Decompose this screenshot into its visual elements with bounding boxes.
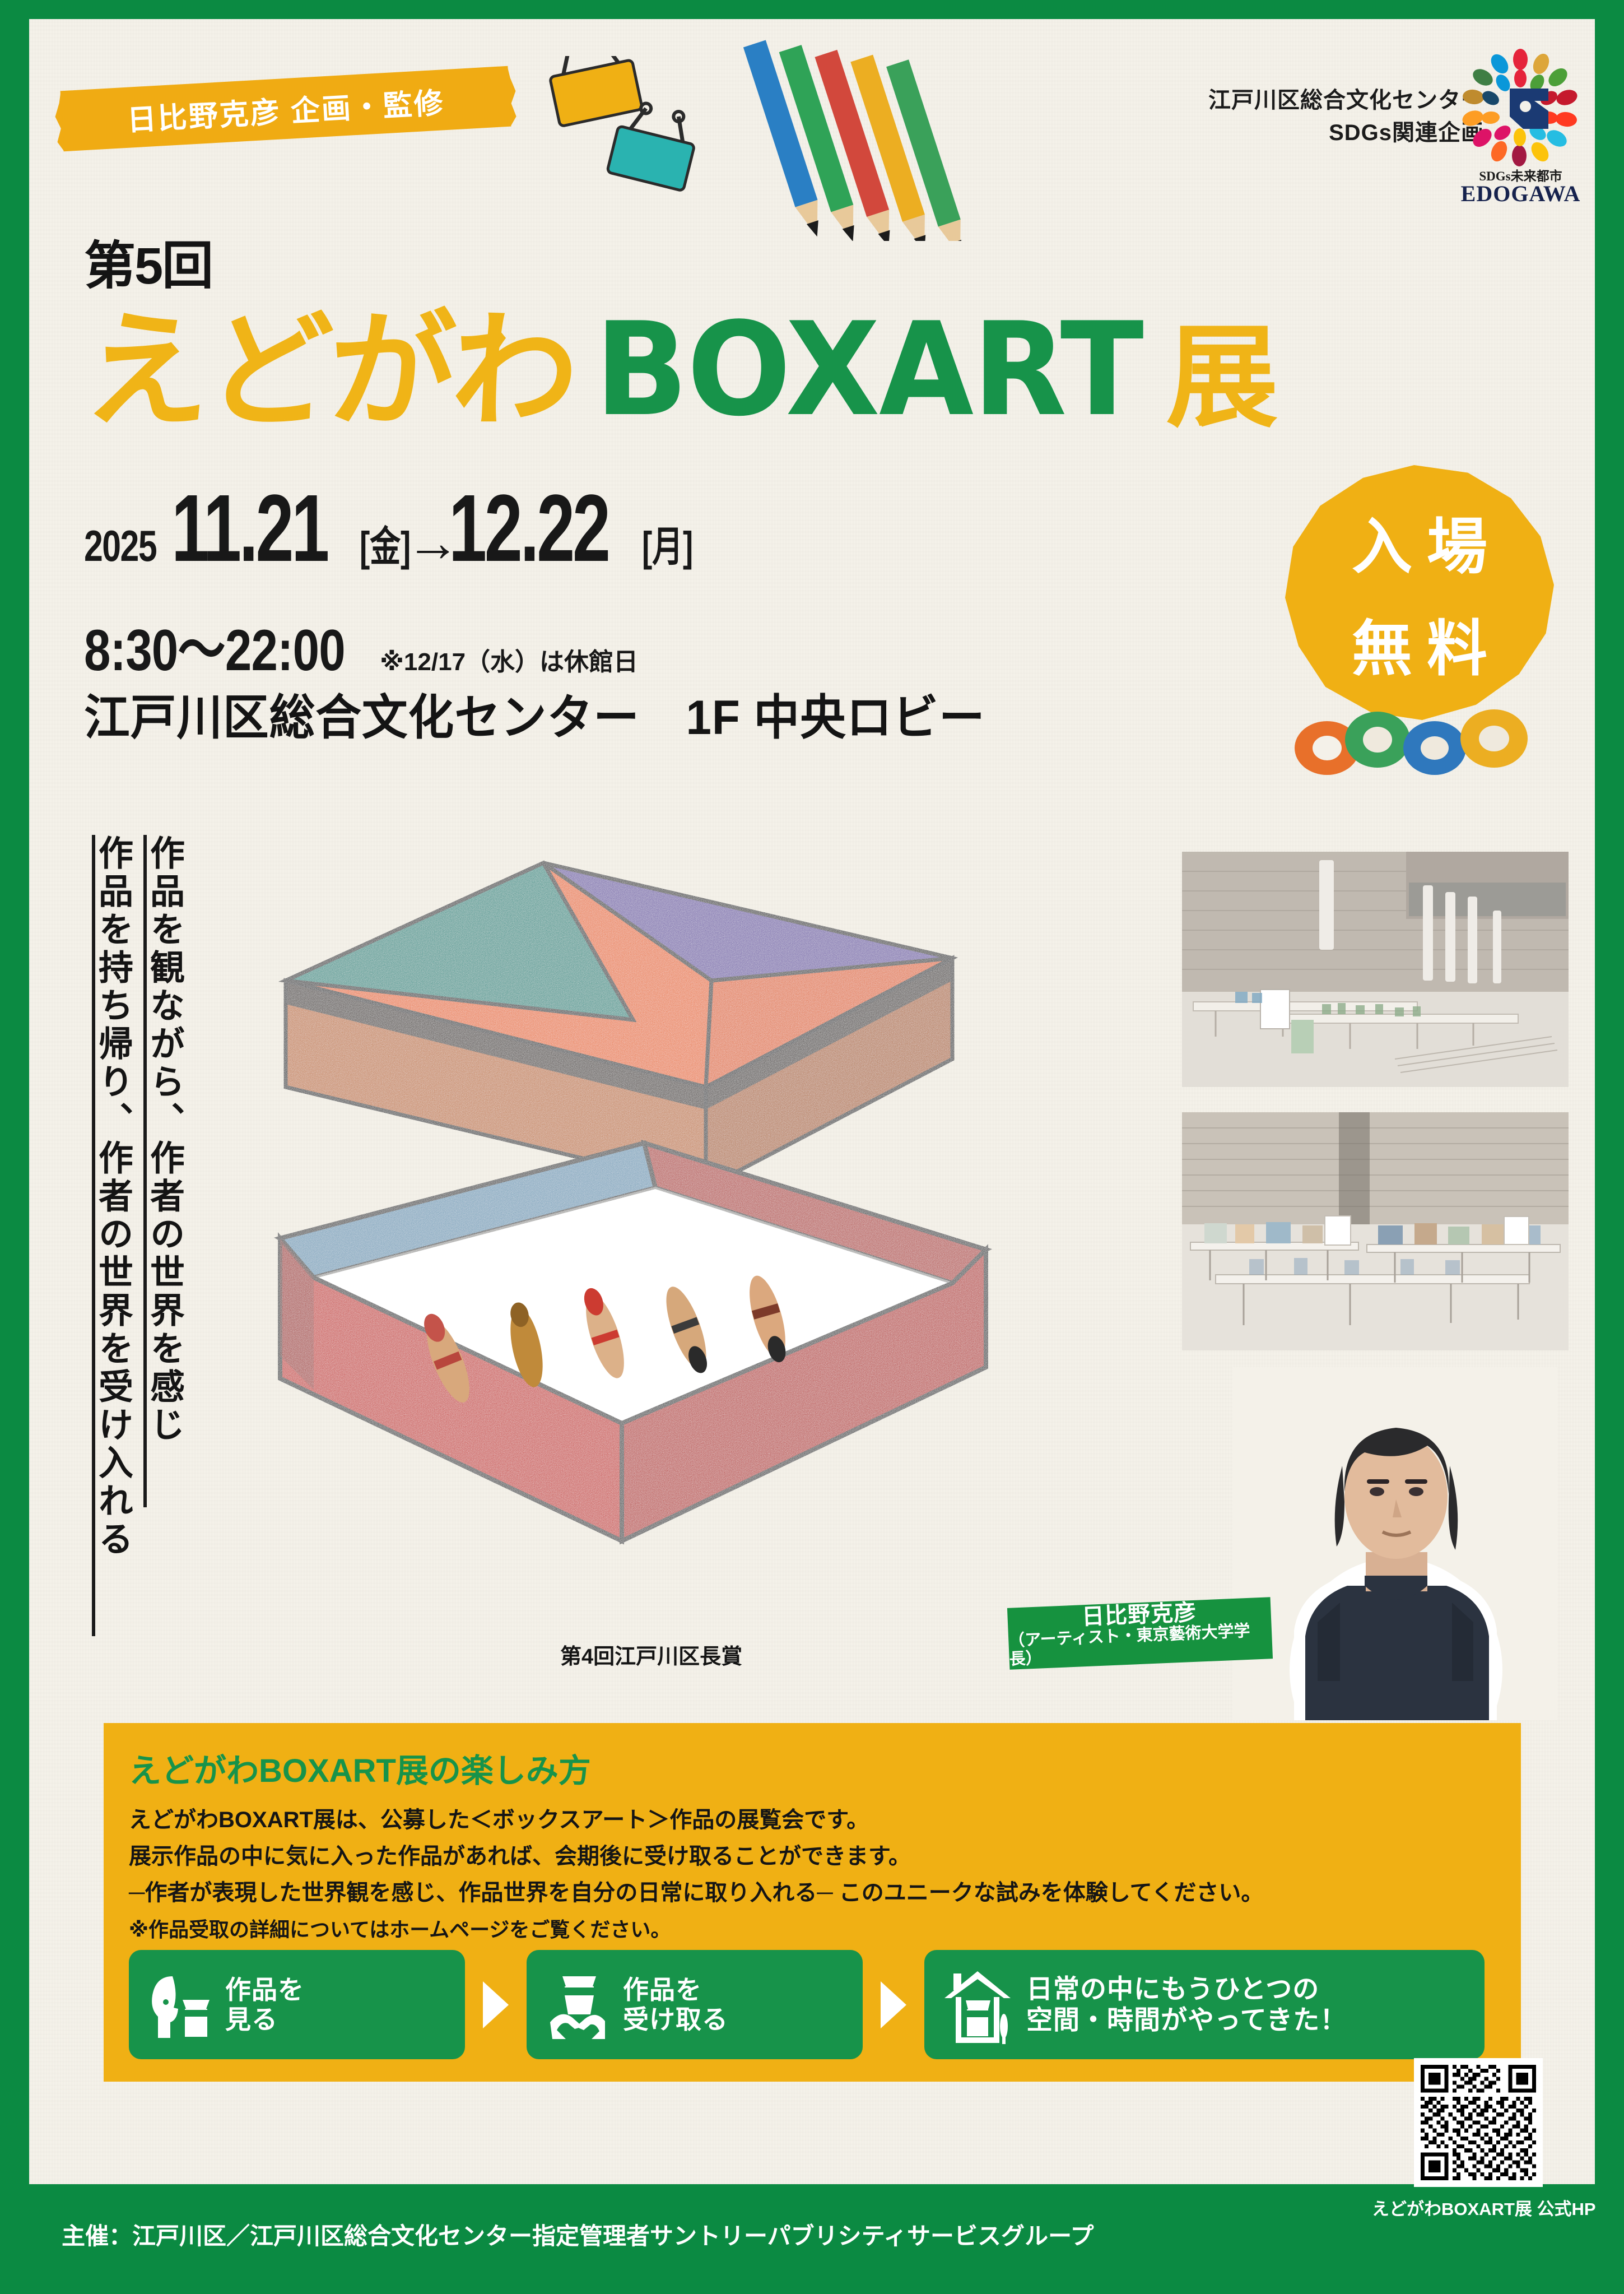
venue-photo-lobby — [1182, 852, 1569, 1087]
vertical-copy-left-text: 作品を持ち帰り、作者の世界を受け入れる — [95, 835, 130, 1559]
venue-photo-tables — [1182, 1112, 1569, 1350]
date-end: 12.22 — [449, 473, 608, 583]
artist-portrait-photo — [1232, 1367, 1557, 1720]
steps-row: 作品を 見る 作品を 受け取る — [129, 1950, 1496, 2059]
hands-receiving-box-icon — [543, 1968, 611, 2041]
washi-tape-rolls-decoration — [1288, 695, 1551, 779]
artwork-caption: 第4回江戸川区長賞 — [560, 1639, 742, 1670]
supervisor-label: 日比野克彦 企画・監修 — [126, 79, 446, 139]
title-ten: 展 — [1166, 325, 1278, 431]
venue-name: 江戸川区総合文化センター 1F 中央ロビー — [84, 678, 985, 748]
panel-line-2: 展示作品の中に気に入った作品があれば、会期後に受け取ることができます。 — [129, 1838, 911, 1870]
step-label-home: 日常の中にもうひとつの 空間・時間がやってきた！ — [1026, 1974, 1347, 2035]
step-card-view[interactable]: 作品を 見る — [129, 1950, 465, 2059]
step-label-view: 作品を 見る — [225, 1975, 304, 2035]
binder-clips-decoration — [538, 56, 723, 219]
vertical-copy-left: 作品を持ち帰り、作者の世界を受け入れる — [84, 835, 130, 1636]
step-view-line1: 作品を — [225, 1975, 304, 2005]
arrow-separator-1 — [465, 1981, 527, 2028]
panel-line-1: えどがわBOXART展は、公募した＜ボックスアート＞作品の展覧会です。 — [129, 1801, 869, 1834]
qr-caption: えどがわBOXART展 公式HP — [1372, 2195, 1557, 2220]
title-roman: BOXART — [595, 309, 1143, 432]
poster-root: 日比野克彦 企画・監修 江戸川区総合文化センター SDGs関連企画 — [0, 0, 1624, 2294]
org-line-1: 江戸川区総合文化センター — [1125, 84, 1484, 117]
artist-name-tape: 日比野克彦 （アーティスト・東京藝術大学学長） — [1007, 1597, 1273, 1670]
badge-line-1: 入場 — [1337, 498, 1502, 586]
organization-block: 江戸川区総合文化センター SDGs関連企画 — [1125, 84, 1484, 149]
qr-code-image — [1421, 2065, 1536, 2180]
page-title: えどがわ BOXART 展 — [84, 280, 1518, 431]
date-start-weekday: [金] — [360, 513, 411, 573]
vertical-copy-block: 作品を観ながら、作者の世界を感じ 作品を持ち帰り、作者の世界を受け入れる — [84, 835, 182, 1636]
step-card-home[interactable]: 日常の中にもうひとつの 空間・時間がやってきた！ — [924, 1950, 1485, 2059]
vertical-copy-right: 作品を観ながら、作者の世界を感じ — [136, 835, 182, 1636]
title-kana: えどがわ — [82, 312, 576, 431]
boxart-artwork-photo — [263, 796, 1137, 1619]
house-with-box-icon — [941, 1966, 1014, 2044]
arrow-right-icon — [483, 1981, 509, 2028]
panel-line-4: ※作品受取の詳細についてはホームページをご覧ください。 — [129, 1914, 671, 1943]
badge-line-2: 無料 — [1337, 600, 1502, 688]
step-receive-line2: 受け取る — [623, 2005, 728, 2035]
panel-heading: えどがわBOXART展の楽しみ方 — [129, 1744, 591, 1791]
panel-line-3: ─作者が表現した世界観を感じ、作品世界を自分の日常に取り入れる─ このユニークな… — [129, 1874, 1263, 1907]
info-panel: えどがわBOXART展の楽しみ方 えどがわBOXART展は、公募した＜ボックスア… — [104, 1723, 1521, 2082]
arrow-right-icon-2 — [881, 1981, 906, 2028]
org-line-2: SDGs関連企画 — [1125, 117, 1484, 149]
sdgs-caption-large: EDOGAWA — [1458, 180, 1584, 207]
qr-code[interactable] — [1414, 2058, 1543, 2187]
step-card-receive[interactable]: 作品を 受け取る — [527, 1950, 863, 2059]
organizer-footer: 主催：江戸川区／江戸川区総合文化センター指定管理者サントリーパブリシティサービス… — [62, 2217, 1094, 2251]
date-end-weekday: [月] — [642, 513, 693, 573]
arrow-separator-2 — [863, 1981, 924, 2028]
closed-day-note: ※12/17（水）は休館日 — [380, 642, 638, 677]
step-receive-line1: 作品を — [623, 1975, 728, 2005]
opening-hours: 8:30〜22:00 — [84, 602, 345, 687]
step-home-line1: 日常の中にもうひとつの — [1026, 1974, 1347, 2004]
qr-block[interactable]: えどがわBOXART展 公式HP — [1400, 2058, 1557, 2220]
colored-pencils-decoration — [689, 0, 1126, 241]
head-and-box-icon — [146, 1968, 213, 2041]
date-start: 11.21 — [171, 473, 327, 583]
date-year: 2025 — [84, 521, 156, 572]
step-label-receive: 作品を 受け取る — [623, 1975, 728, 2035]
opening-hours-row: 8:30〜22:00 ※12/17（水）は休館日 — [84, 602, 638, 687]
step-view-line2: 見る — [225, 2005, 304, 2035]
exhibition-dates: 2025 11.21 [金] → 12.22 [月] — [84, 473, 711, 583]
step-home-line2: 空間・時間がやってきた！ — [1026, 2005, 1347, 2035]
vertical-copy-right-text: 作品を観ながら、作者の世界を感じ — [147, 835, 182, 1445]
